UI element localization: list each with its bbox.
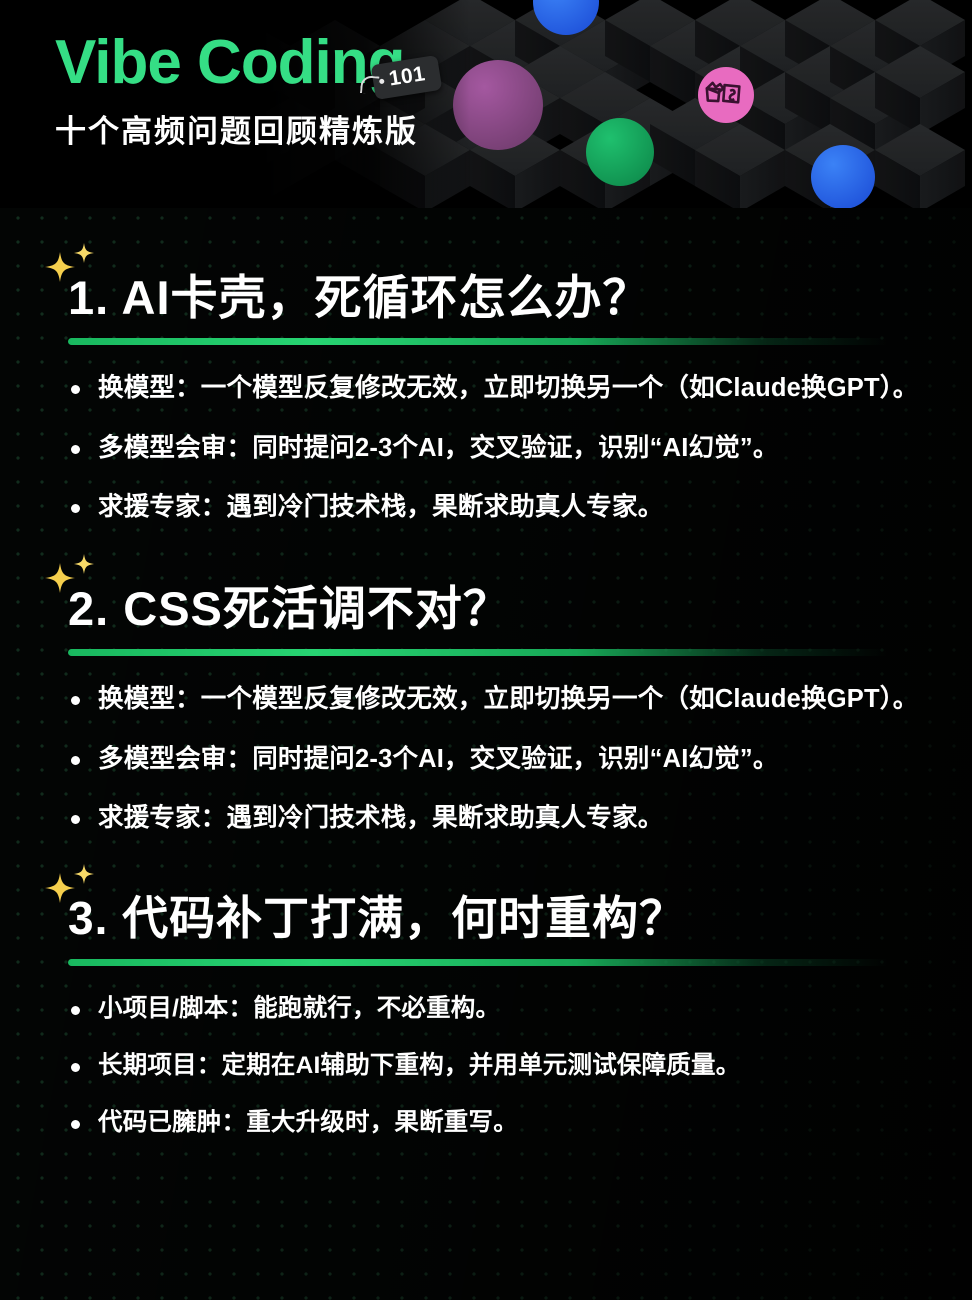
list-item: 求援专家：遇到冷门技术栈，果断求助真人专家。 — [98, 801, 972, 835]
pink-badge-icon — [698, 67, 754, 123]
page-title: Vibe Coding — [55, 32, 405, 94]
list-item: 长期项目：定期在AI辅助下重构，并用单元测试保障质量。 — [98, 1049, 972, 1082]
section-1-divider — [68, 338, 888, 345]
list-item: 多模型会审：同时提问2-3个AI，交叉验证，识别“AI幻觉”。 — [98, 431, 972, 465]
section-2-head: 2. CSS死活调不对？ — [0, 581, 972, 636]
section-2-divider — [68, 649, 888, 656]
badge-pin-dot — [379, 79, 385, 85]
section-1-bullet-list: 换模型：一个模型反复修改无效，立即切换另一个（如Claude换GPT）。 多模型… — [0, 371, 972, 524]
green-circle — [586, 118, 654, 186]
sparkle-icon — [40, 553, 100, 605]
hero-header: Vibe Coding 101 十个高频问题回顾精炼版 — [0, 0, 972, 208]
section-1-head: 1. AI卡壳，死循环怎么办？ — [0, 270, 972, 325]
blue-circle-right — [811, 145, 875, 208]
section-3-head: 3. 代码补丁打满，何时重构？ — [0, 891, 972, 945]
list-item: 代码已臃肿：重大升级时，果断重写。 — [98, 1106, 972, 1139]
section-2: 2. CSS死活调不对？ 换模型：一个模型反复修改无效，立即切换另一个（如Cla… — [0, 581, 972, 836]
blue-circle-top — [533, 0, 599, 35]
hero-text-block: Vibe Coding 101 十个高频问题回顾精炼版 — [55, 32, 418, 151]
section-1-title: 1. AI卡壳，死循环怎么办？ — [68, 270, 972, 325]
sections-container: 1. AI卡壳，死循环怎么办？ 换模型：一个模型反复修改无效，立即切换另一个（如… — [0, 208, 972, 1139]
list-item: 换模型：一个模型反复修改无效，立即切换另一个（如Claude换GPT）。 — [98, 371, 972, 405]
sparkle-icon — [40, 242, 100, 294]
section-3-title: 3. 代码补丁打满，何时重构？ — [68, 891, 972, 945]
section-1: 1. AI卡壳，死循环怎么办？ 换模型：一个模型反复修改无效，立即切换另一个（如… — [0, 270, 972, 525]
sparkle-icon — [40, 863, 100, 915]
section-3-divider — [68, 959, 888, 966]
list-item: 换模型：一个模型反复修改无效，立即切换另一个（如Claude换GPT）。 — [98, 682, 972, 716]
section-3: 3. 代码补丁打满，何时重构？ 小项目/脚本：能跑就行，不必重构。 长期项目：定… — [0, 891, 972, 1138]
badge-label: 101 — [387, 62, 427, 90]
list-item: 求援专家：遇到冷门技术栈，果断求助真人专家。 — [98, 490, 972, 524]
purple-circle — [453, 60, 543, 150]
list-item: 小项目/脚本：能跑就行，不必重构。 — [98, 992, 972, 1025]
section-2-title: 2. CSS死活调不对？ — [68, 581, 972, 636]
section-3-bullet-list: 小项目/脚本：能跑就行，不必重构。 长期项目：定期在AI辅助下重构，并用单元测试… — [0, 992, 972, 1139]
section-2-bullet-list: 换模型：一个模型反复修改无效，立即切换另一个（如Claude换GPT）。 多模型… — [0, 682, 972, 835]
list-item: 多模型会审：同时提问2-3个AI，交叉验证，识别“AI幻觉”。 — [98, 742, 972, 776]
poster-page: Vibe Coding 101 十个高频问题回顾精炼版 1. AI卡壳，死循环怎… — [0, 0, 972, 1300]
page-subtitle: 十个高频问题回顾精炼版 — [55, 106, 418, 151]
